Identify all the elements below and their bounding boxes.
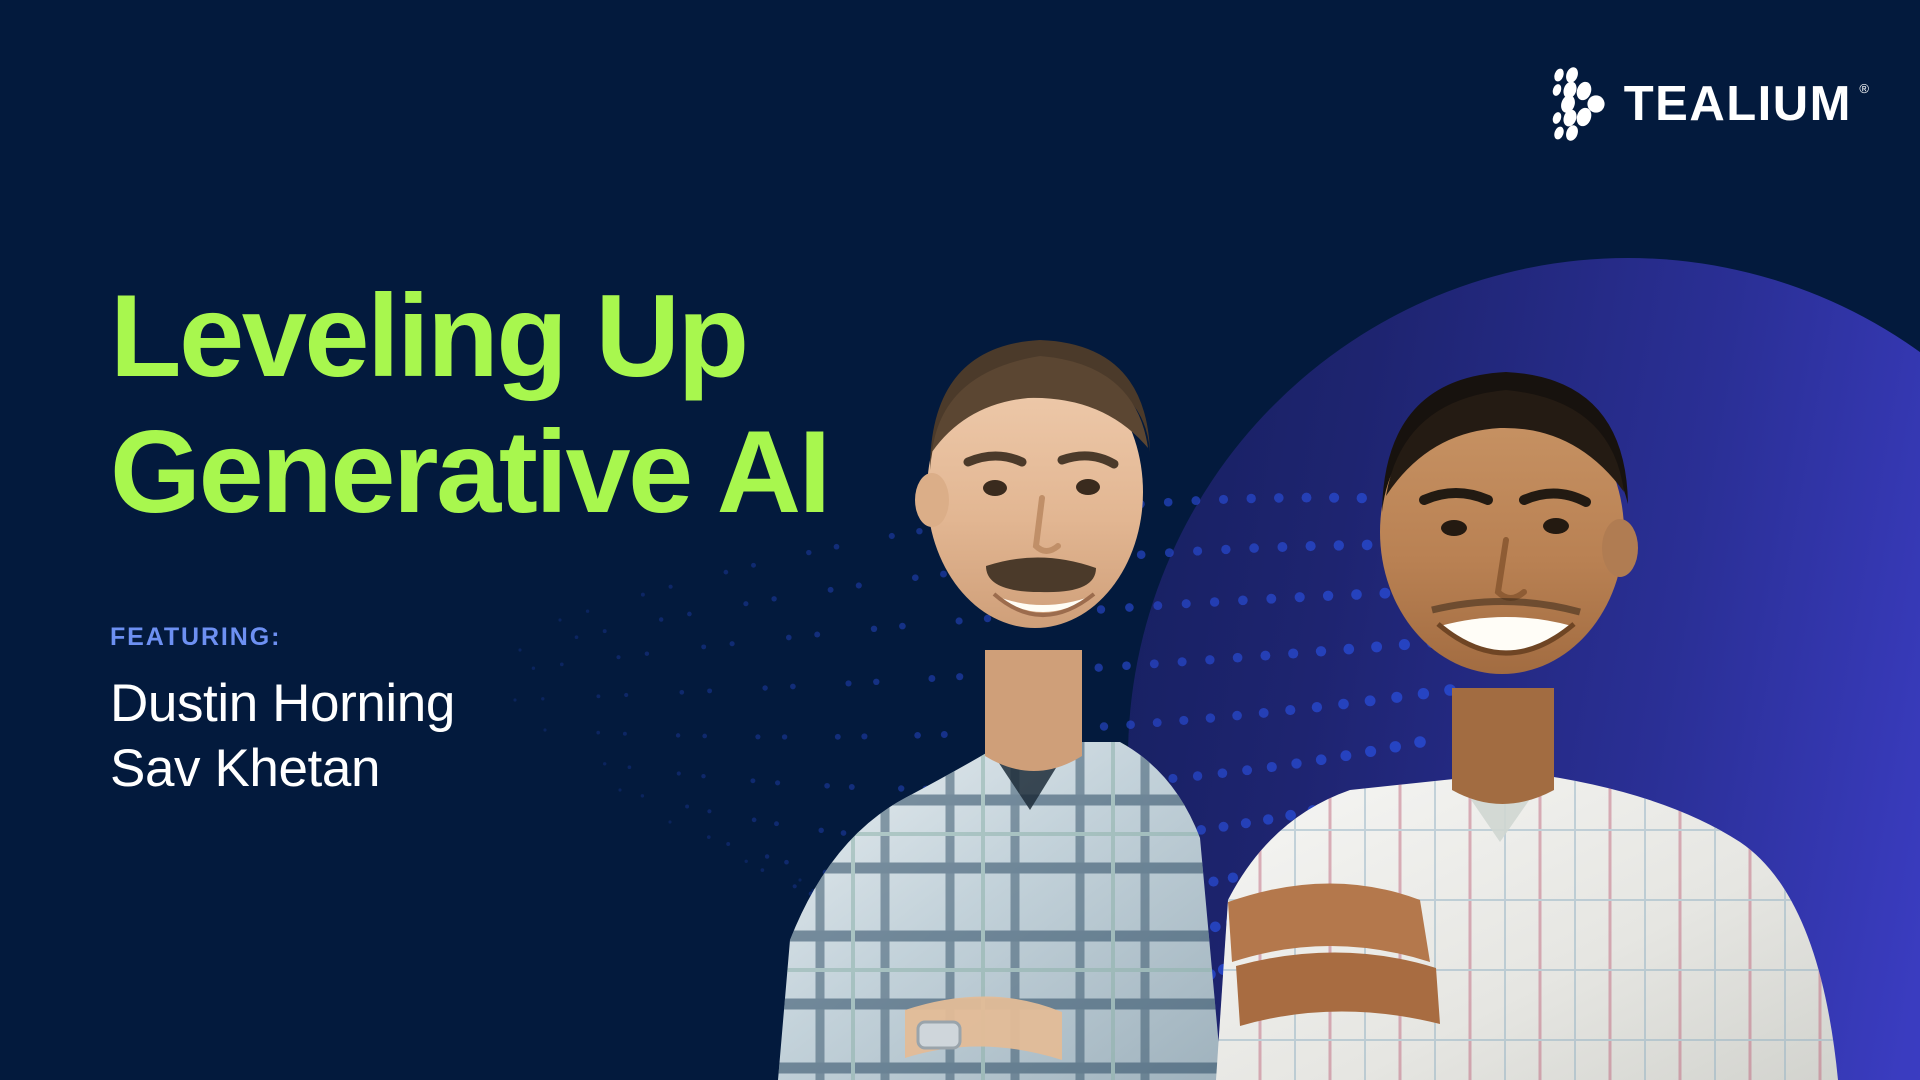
tealium-logo: TEALIUM ®	[1550, 63, 1852, 145]
featuring-label: FEATURING:	[110, 623, 930, 652]
registered-trademark-icon: ®	[1859, 82, 1869, 95]
person-right	[1200, 372, 1860, 1080]
speaker-name-1: Dustin Horning	[110, 672, 930, 737]
page-title: Leveling Up Generative AI	[110, 268, 930, 539]
tealium-dot-triangle-icon	[1550, 63, 1610, 145]
speaker-list: Dustin Horning Sav Khetan	[110, 672, 930, 801]
speaker-name-2: Sav Khetan	[110, 737, 930, 802]
tealium-wordmark-text: TEALIUM	[1624, 77, 1852, 131]
tealium-wordmark: TEALIUM ®	[1624, 80, 1852, 129]
webinar-title-card: Leveling Up Generative AI FEATURING: Dus…	[0, 0, 1920, 1080]
hero-text-block: Leveling Up Generative AI FEATURING: Dus…	[110, 268, 930, 802]
